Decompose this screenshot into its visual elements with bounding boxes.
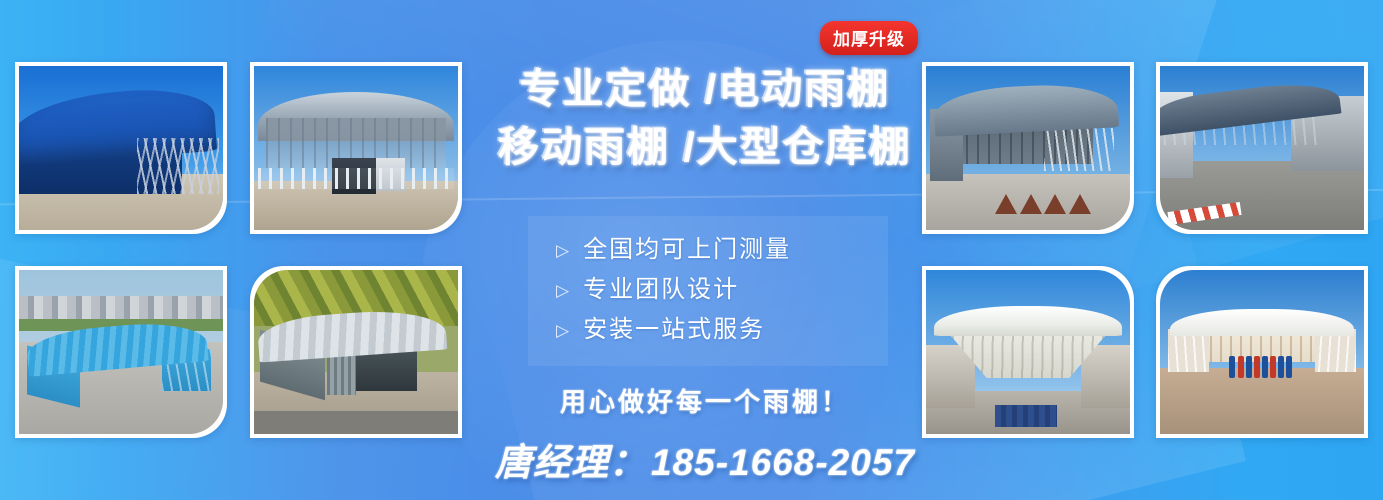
- canopy-fold: [327, 352, 356, 395]
- slogan: 用心做好每一个雨棚！: [480, 382, 930, 419]
- headline-line-1: 专业定做 /电动雨棚: [480, 60, 930, 118]
- headline: 专业定做 /电动雨棚 移动雨棚 /大型仓库棚: [480, 60, 930, 176]
- feature-item-3: ▷ 安装一站式服务: [528, 310, 888, 350]
- ballast-block: [995, 194, 1017, 214]
- contact-name: 唐经理：: [495, 442, 647, 483]
- ballast-block: [1044, 194, 1066, 214]
- canopy-rails: [258, 168, 454, 189]
- photo-grey-canopy-trees: [250, 266, 462, 438]
- canopy-frame: [137, 138, 219, 194]
- feature-item-1: ▷ 全国均可上门测量: [528, 230, 888, 270]
- ballast-block: [1069, 194, 1091, 214]
- feature-label: 专业团队设计: [583, 278, 739, 302]
- upgrade-badge: 加厚升级: [820, 21, 918, 55]
- feature-label: 全国均可上门测量: [583, 238, 791, 262]
- contact-phone-number[interactable]: 185-1668-2057: [651, 442, 915, 483]
- worker: [1270, 356, 1276, 378]
- triangle-bullet-icon: ▷: [556, 282, 571, 299]
- photo-light-blue-mobile-canopy: [15, 266, 227, 438]
- photo-grey-warehouse-canopy: [250, 62, 462, 234]
- stored-goods: [995, 405, 1056, 428]
- worker: [1229, 356, 1235, 378]
- feature-label: 安装一站式服务: [583, 318, 765, 342]
- photo-blue-retractable-canopy: [15, 62, 227, 234]
- contact-line: 唐经理：185-1668-2057: [480, 432, 930, 486]
- photo-white-canopy-factory: [922, 266, 1134, 438]
- worker: [1286, 356, 1292, 378]
- ground: [1160, 368, 1364, 434]
- advertising-banner: 加厚升级 专业定做 /电动雨棚 移动雨棚 /大型仓库棚 ▷ 全国均可上门测量 ▷…: [0, 0, 1383, 500]
- worker: [1278, 356, 1284, 378]
- triangle-bullet-icon: ▷: [556, 242, 571, 259]
- photo-white-canopy-workers: [1156, 266, 1368, 438]
- worker: [1238, 356, 1244, 378]
- worker: [1254, 356, 1260, 378]
- canopy-frame: [1044, 128, 1113, 171]
- ballast-block: [1020, 194, 1042, 214]
- road: [254, 411, 458, 434]
- headline-line-2: 移动雨棚 /大型仓库棚: [480, 118, 930, 176]
- triangle-bullet-icon: ▷: [556, 322, 571, 339]
- photo-corridor-canopy-road: [1156, 62, 1368, 234]
- worker: [1262, 356, 1268, 378]
- feature-item-2: ▷ 专业团队设计: [528, 270, 888, 310]
- feature-list: ▷ 全国均可上门测量 ▷ 专业团队设计 ▷ 安装一站式服务: [528, 216, 888, 366]
- center-content: 加厚升级 专业定做 /电动雨棚 移动雨棚 /大型仓库棚 ▷ 全国均可上门测量 ▷…: [480, 0, 930, 500]
- canopy-roof: [1170, 309, 1354, 335]
- photo-grey-tent-cones: [922, 62, 1134, 234]
- worker: [1246, 356, 1252, 378]
